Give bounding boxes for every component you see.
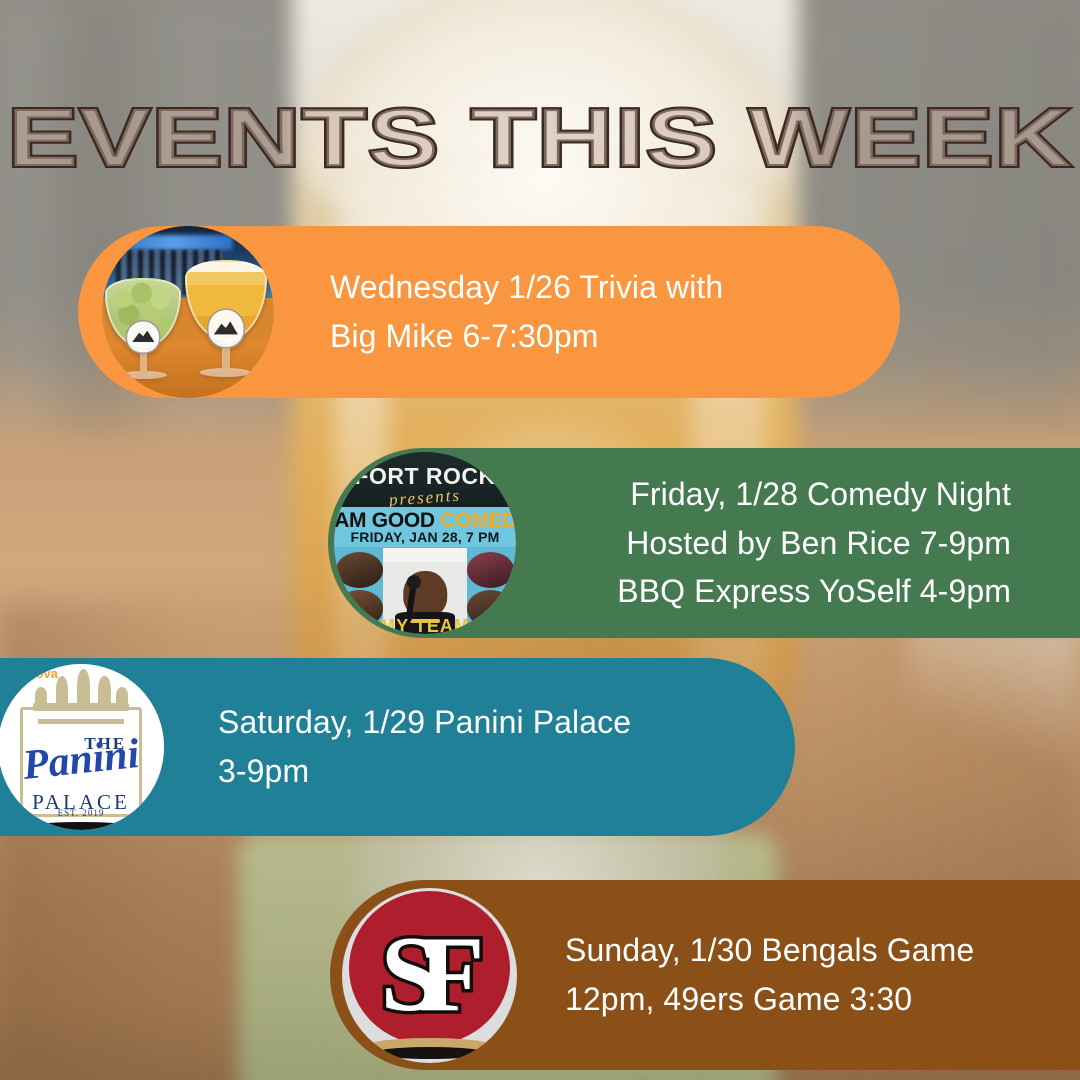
event-text-wednesday: Wednesday 1/26 Trivia with Big Mike 6-7:… (330, 263, 723, 360)
sf-49ers-logo: SF (342, 888, 517, 1063)
poster-bottom-text: MY TEAM (334, 616, 516, 634)
event-text-saturday: Saturday, 1/29 Panini Palace 3-9pm (218, 698, 631, 795)
event-row-friday-comedy: FORT ROCK presents DAM GOOD COMEDY FRIDA… (328, 448, 1080, 638)
dam-good-comedy-poster: FORT ROCK presents DAM GOOD COMEDY FRIDA… (334, 452, 516, 634)
panini-palace-logo: ordova THE Panini PALACE EST. 2019 (0, 664, 164, 830)
page-title: EVENTS THIS WEEK (0, 96, 1080, 179)
event-text-friday: Friday, 1/28 Comedy Night Hosted by Ben … (617, 470, 1011, 616)
event-row-wednesday-trivia: Wednesday 1/26 Trivia with Big Mike 6-7:… (78, 226, 900, 398)
beer-and-hops-glasses-photo (102, 226, 274, 398)
logo-base-shadow (28, 822, 134, 830)
shield-divider (38, 719, 124, 724)
event-row-sunday-games: SF Sunday, 1/30 Bengals Game 12pm, 49ers… (330, 880, 1080, 1070)
panini-est-text: EST. 2019 (58, 808, 105, 818)
bar-lights (112, 235, 232, 250)
event-text-sunday: Sunday, 1/30 Bengals Game 12pm, 49ers Ga… (565, 926, 974, 1023)
poster-brand: FORT ROCK (354, 463, 495, 490)
poster-date-line: FRIDAY, JAN 28, 7 PM (351, 529, 500, 545)
background-right-edge (907, 626, 1080, 777)
event-row-saturday-panini: ordova THE Panini PALACE EST. 2019 Satur… (0, 658, 795, 836)
beer-filled-glass (185, 260, 268, 391)
niners-monogram: SF (342, 888, 517, 1063)
hops-filled-glass (105, 278, 181, 392)
